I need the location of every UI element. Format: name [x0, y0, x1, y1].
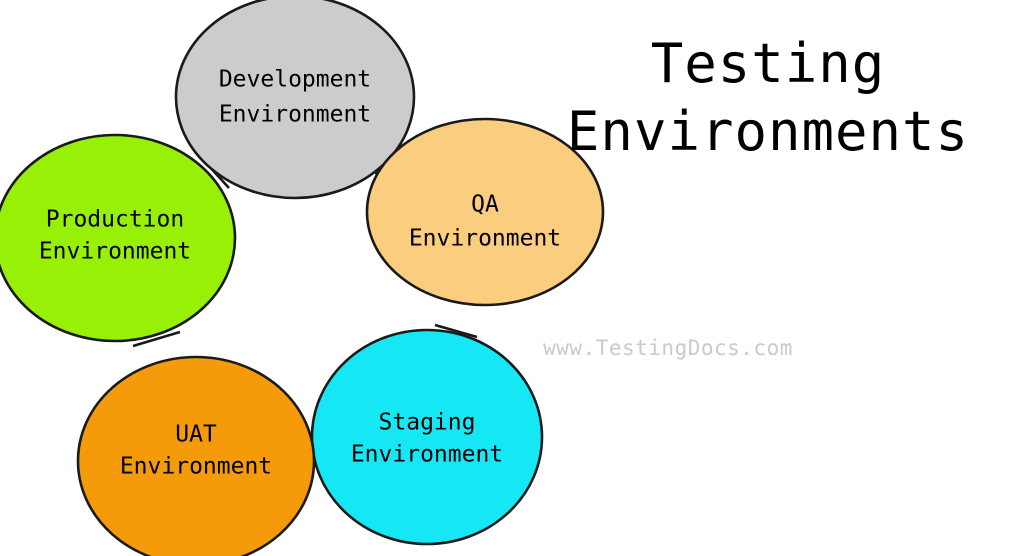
development-label-line2: Environment: [219, 102, 371, 128]
production-label-line2: Environment: [39, 239, 191, 265]
node-staging[interactable]: Staging Environment: [312, 330, 542, 544]
uat-label-line2: Environment: [120, 454, 272, 480]
qa-label-line2: Environment: [409, 226, 561, 252]
development-ellipse[interactable]: [176, 0, 414, 198]
production-label-line1: Production: [46, 207, 184, 233]
staging-ellipse[interactable]: [312, 330, 542, 544]
qa-label-line1: QA: [471, 192, 499, 218]
development-label-line1: Development: [219, 67, 371, 93]
node-development[interactable]: Development Environment: [176, 0, 414, 198]
staging-label-line2: Environment: [351, 442, 503, 468]
node-uat[interactable]: UAT Environment: [78, 357, 314, 556]
title-line-2: Environments: [567, 100, 969, 163]
watermark: www.TestingDocs.com: [543, 336, 793, 360]
uat-label-line1: UAT: [175, 422, 217, 448]
title-line-1: Testing: [651, 32, 886, 95]
testing-environments-diagram: Staging Environment UAT Environment Prod…: [0, 0, 1024, 556]
staging-label-line1: Staging: [379, 410, 476, 436]
node-production[interactable]: Production Environment: [0, 135, 235, 341]
